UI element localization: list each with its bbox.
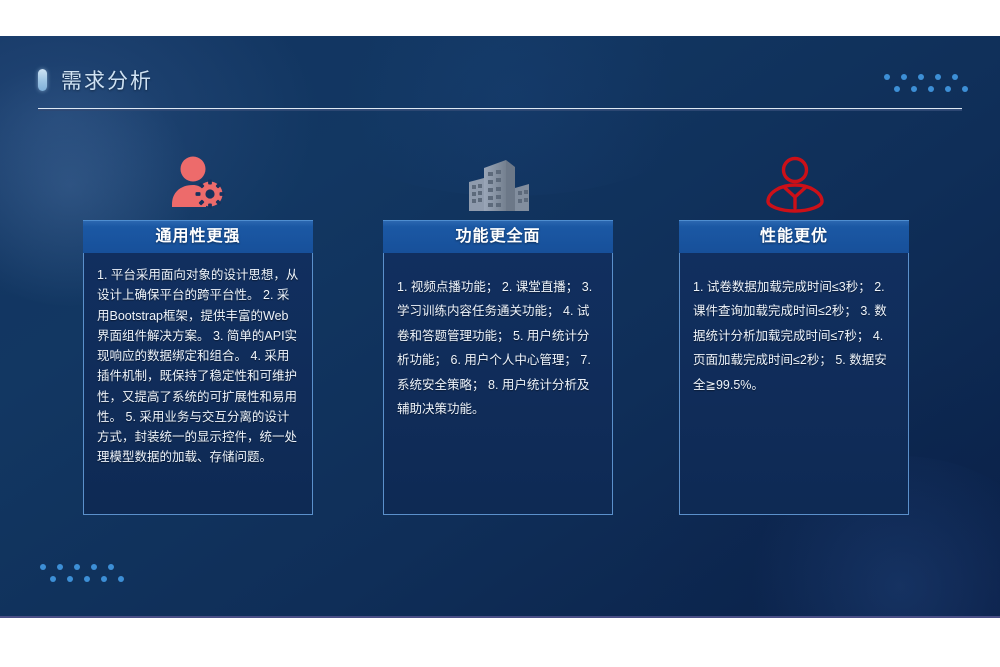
person-gear-icon [166,154,230,214]
feature-card-generality: 通用性更强 1. 平台采用面向对象的设计思想，从设计上确保平台的跨平台性。 2.… [83,220,313,515]
card-heading: 功能更全面 [383,220,613,253]
decorative-dots-top-right [884,74,968,92]
dot [50,576,56,582]
title-row: 需求分析 [38,64,962,96]
dots-row [50,576,124,582]
dot [74,564,80,570]
slide-header: 需求分析 [38,64,962,116]
dot [884,74,890,80]
dot [918,74,924,80]
title-underline-divider [38,108,962,111]
dots-row [884,74,968,80]
dots-row [40,564,124,570]
slide-canvas: 需求分析 [0,36,1000,618]
dot [108,564,114,570]
card-icon-1 [158,152,238,214]
feature-card-performance: 性能更优 1. 试卷数据加载完成时间≤3秒； 2. 课件查询加载完成时间≤2秒；… [679,220,909,515]
dot [57,564,63,570]
dot [118,576,124,582]
pill-marker-icon [38,69,47,91]
page-title: 需求分析 [61,65,153,95]
list-item: 5. 采用业务与交互分离的设计方式，封装统一的显示控件，统一处理模型数据的加载、… [97,410,297,465]
dot [935,74,941,80]
card-item-list: 1. 视频点播功能； 2. 课堂直播； 3. 学习训练内容任务通关功能； 4. … [397,275,599,421]
card-body: 1. 平台采用面向对象的设计思想，从设计上确保平台的跨平台性。 2. 采用Boo… [83,253,313,515]
dot [962,86,968,92]
decorative-dots-bottom-left [40,564,124,582]
dots-row [894,86,968,92]
dot [952,74,958,80]
card-body: 1. 视频点播功能； 2. 课堂直播； 3. 学习训练内容任务通关功能； 4. … [383,253,613,515]
dot [945,86,951,92]
feature-card-functionality: 功能更全面 1. 视频点播功能； 2. 课堂直播； 3. 学习训练内容任务通关功… [383,220,613,515]
list-item: 1. 试卷数据加载完成时间≤3秒； [693,280,871,294]
card-heading: 性能更优 [679,220,909,253]
dot [67,576,73,582]
dot [911,86,917,92]
list-item: 6. 用户个人中心管理； [451,353,577,367]
dot [91,564,97,570]
card-icon-3 [755,152,835,214]
building-icon [463,156,533,214]
person-tie-icon [764,156,826,214]
dot [101,576,107,582]
card-icon-2 [458,152,538,214]
card-body: 1. 试卷数据加载完成时间≤3秒； 2. 课件查询加载完成时间≤2秒； 3. 数… [679,253,909,515]
dot [40,564,46,570]
list-item: 1. 视频点播功能； [397,280,498,294]
card-item-list: 1. 平台采用面向对象的设计思想，从设计上确保平台的跨平台性。 2. 采用Boo… [97,265,299,468]
dot [894,86,900,92]
dot [901,74,907,80]
dot [84,576,90,582]
card-heading: 通用性更强 [83,220,313,253]
card-item-list: 1. 试卷数据加载完成时间≤3秒； 2. 课件查询加载完成时间≤2秒； 3. 数… [693,275,895,397]
list-item: 2. 课堂直播； [502,280,578,294]
dot [928,86,934,92]
